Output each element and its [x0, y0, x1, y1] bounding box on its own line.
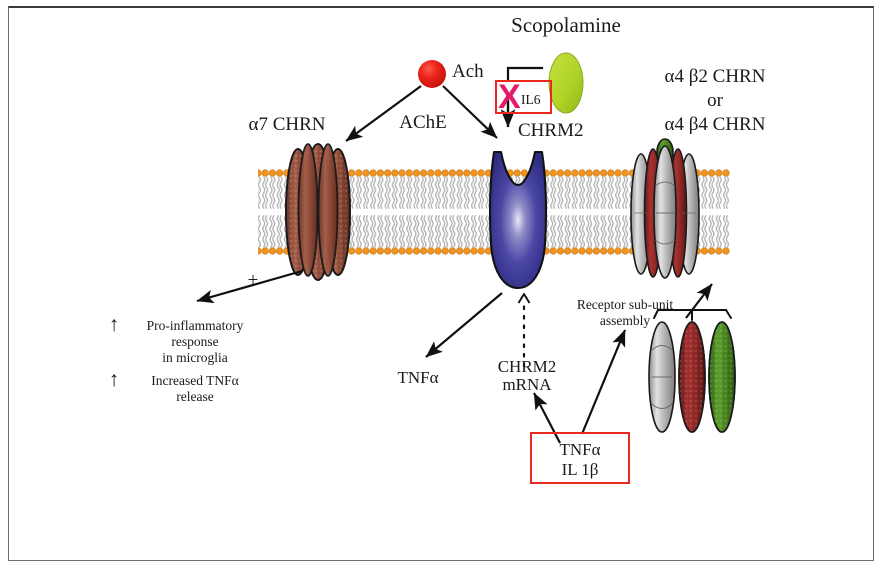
- cytokines-to-assembly-arrow: [582, 330, 625, 434]
- increased-tnfa-line2: release: [120, 389, 270, 404]
- plus-sign-label: +: [240, 270, 266, 291]
- alpha7-chrn-label: α7 CHRN: [222, 114, 352, 135]
- scopolamine-label: Scopolamine: [466, 14, 666, 38]
- receptor-subunit-line2: assembly: [540, 313, 710, 328]
- alpha4-beta4-chrn-label: α4 β4 CHRN: [630, 114, 800, 135]
- free-subunit-group: [649, 322, 735, 432]
- ach-label: Ach: [452, 61, 542, 82]
- alpha4-beta2-chrn-label: α4 β2 CHRN: [630, 66, 800, 87]
- alpha4-beta-chrn-receptor: [631, 139, 699, 278]
- chrm2-mrna-line2: mRNA: [482, 375, 572, 394]
- increased-tnfa-line1: Increased TNFα: [120, 373, 270, 388]
- ach-molecule-dot: [418, 60, 446, 88]
- tnfa-output-label: TNFα: [378, 368, 458, 387]
- pro-inflammatory-line2: response: [120, 334, 270, 349]
- chrm2-mrna-line1: CHRM2: [482, 357, 572, 376]
- or-label: or: [630, 90, 800, 111]
- chrm2-label: CHRM2: [518, 120, 628, 141]
- subunit-green: [709, 322, 735, 432]
- cytokine-box-line2: IL 1β: [530, 460, 630, 479]
- mrna-arrowhead: [519, 294, 530, 303]
- pro-inflammatory-line1: Pro-inflammatory: [120, 318, 270, 333]
- subunit-gray: [649, 322, 675, 432]
- cytokine-box-line1: TNFα: [530, 440, 630, 459]
- il6-label: IL6: [521, 92, 555, 107]
- receptor-subunit-line1: Receptor sub-unit: [540, 297, 710, 312]
- alpha7-chrn-receptor: [286, 144, 350, 280]
- pro-inflammatory-line3: in microglia: [120, 350, 270, 365]
- ache-label: AChE: [378, 112, 468, 133]
- subunit-red: [679, 322, 705, 432]
- chrm2-to-tnfa-arrow: [426, 293, 502, 357]
- figure-root: Scopolamine Ach AChE X IL6 CHRM2 α7 CHRN…: [0, 0, 882, 573]
- inhibition-x-icon: X: [498, 80, 521, 114]
